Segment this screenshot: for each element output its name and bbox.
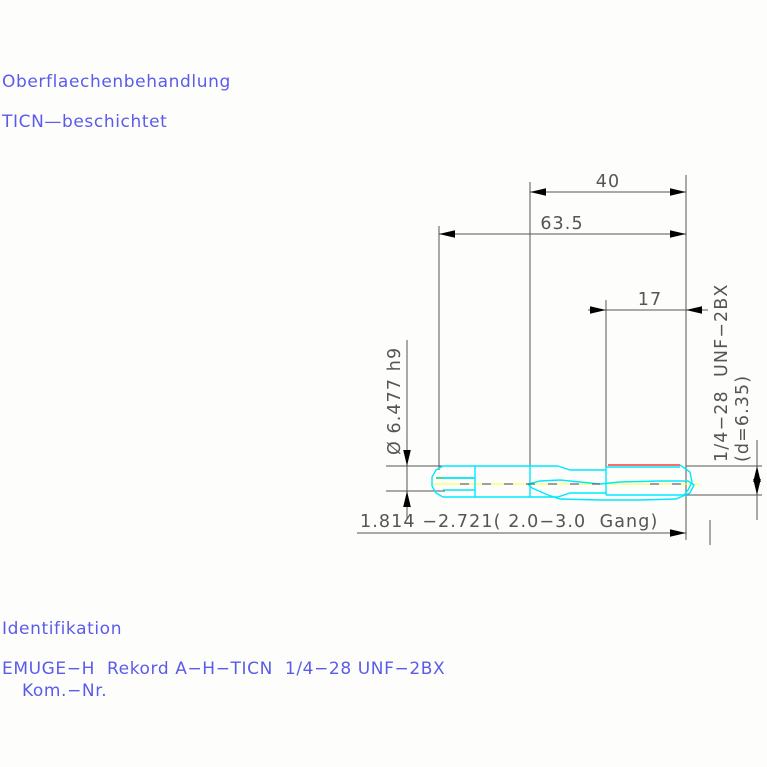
- identification-line-1: EMUGE−H Rekord A−H−TICN 1/4−28 UNF−2BX: [2, 659, 445, 679]
- tap-tool-geometry: [432, 465, 700, 500]
- arrowhead-40-left: [530, 188, 546, 196]
- cad-drawing-canvas: Oberflaechenbehandlung TICN—beschichtet …: [0, 0, 767, 767]
- arrowhead-17-right: [686, 306, 702, 314]
- arrowhead-63-5-left: [439, 230, 455, 238]
- arrowhead-40-right: [670, 188, 686, 196]
- dimension-value-17: 17: [638, 290, 662, 310]
- part-tip-chamfer: [432, 466, 443, 497]
- arrowhead-pitch-note-right: [670, 529, 686, 537]
- part-neck-taper-bottom: [558, 493, 606, 497]
- technical-drawing-svg: Oberflaechenbehandlung TICN—beschichtet …: [0, 0, 767, 767]
- identification-heading: Identifikation: [2, 619, 122, 639]
- note-thread-spec-line-1: 1/4−28 UNF−2BX: [712, 284, 732, 462]
- arrowhead-thread-bottom: [753, 479, 761, 495]
- arrowhead-diameter-bottom: [403, 491, 411, 507]
- surface-treatment-heading: Oberflaechenbehandlung: [2, 72, 231, 92]
- part-flute-relief: [528, 480, 694, 500]
- note-thread-pitch: 1.814 −2.721( 2.0−3.0 Gang): [360, 512, 658, 532]
- arrowhead-17-left: [590, 306, 606, 314]
- dimension-value-shank-diameter: Ø 6.477 h9: [385, 347, 405, 455]
- note-thread-spec-line-2: (d=6.35): [733, 375, 753, 462]
- arrowhead-63-5-right: [670, 230, 686, 238]
- dimension-value-40: 40: [596, 172, 620, 192]
- dimension-value-63-5: 63.5: [540, 214, 583, 234]
- surface-treatment-value: TICN—beschichtet: [1, 112, 167, 132]
- identification-line-2: Kom.−Nr.: [22, 681, 107, 701]
- part-neck-taper-top: [558, 466, 606, 470]
